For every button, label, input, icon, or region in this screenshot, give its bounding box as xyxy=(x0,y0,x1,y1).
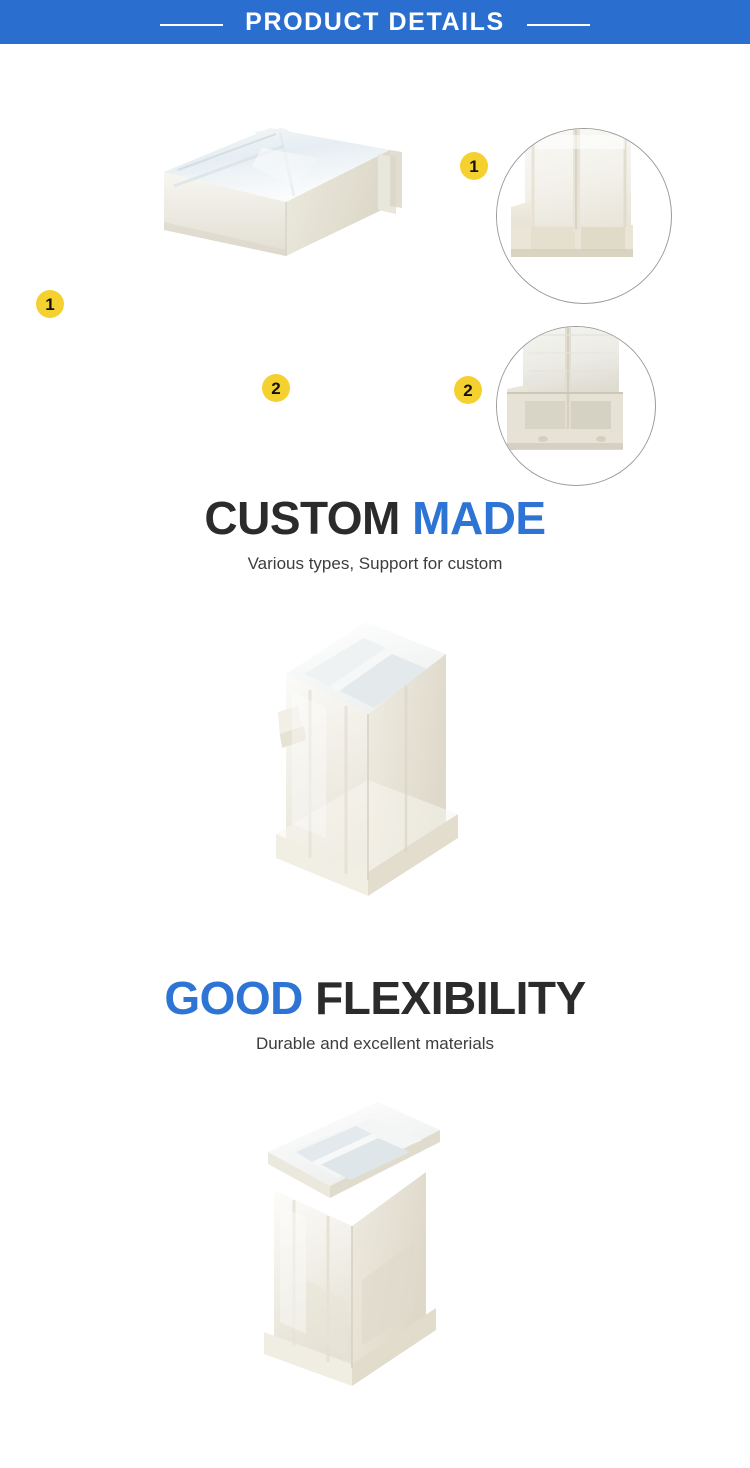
custom-made-headline-part-2: MADE xyxy=(412,492,545,544)
product-details-banner: PRODUCT DETAILS xyxy=(0,0,750,44)
hero-product-photo xyxy=(144,110,408,290)
banner-title: PRODUCT DETAILS xyxy=(245,10,505,35)
custom-made-subtitle: Various types, Support for custom xyxy=(0,555,750,572)
section-heading-good-flexibility: GOOD FLEXIBILITY Durable and excellent m… xyxy=(0,975,750,1052)
banner-ornament-left-icon xyxy=(151,18,223,26)
good-flexibility-subtitle: Durable and excellent materials xyxy=(0,1035,750,1052)
detail-view-circle-2 xyxy=(496,326,656,486)
banner-ornament-right-icon xyxy=(527,18,599,26)
callout-badge-1: 1 xyxy=(36,290,64,318)
callout-badge-2: 2 xyxy=(262,374,290,402)
detail-badge-1: 1 xyxy=(460,152,488,180)
custom-made-headline-part-1: CUSTOM xyxy=(204,492,400,544)
custom-made-product-photo xyxy=(268,608,468,908)
detail-badge-2: 2 xyxy=(454,376,482,404)
good-flexibility-product-photo xyxy=(254,1094,470,1394)
custom-made-headline: CUSTOM MADE xyxy=(0,495,750,541)
good-flexibility-headline: GOOD FLEXIBILITY xyxy=(0,975,750,1021)
good-flexibility-headline-part-1: GOOD xyxy=(164,972,303,1024)
good-flexibility-headline-part-2: FLEXIBILITY xyxy=(315,972,586,1024)
section-heading-custom-made: CUSTOM MADE Various types, Support for c… xyxy=(0,495,750,572)
product-details-stage: 1 2 xyxy=(0,44,750,480)
detail-view-circle-1 xyxy=(496,128,672,304)
